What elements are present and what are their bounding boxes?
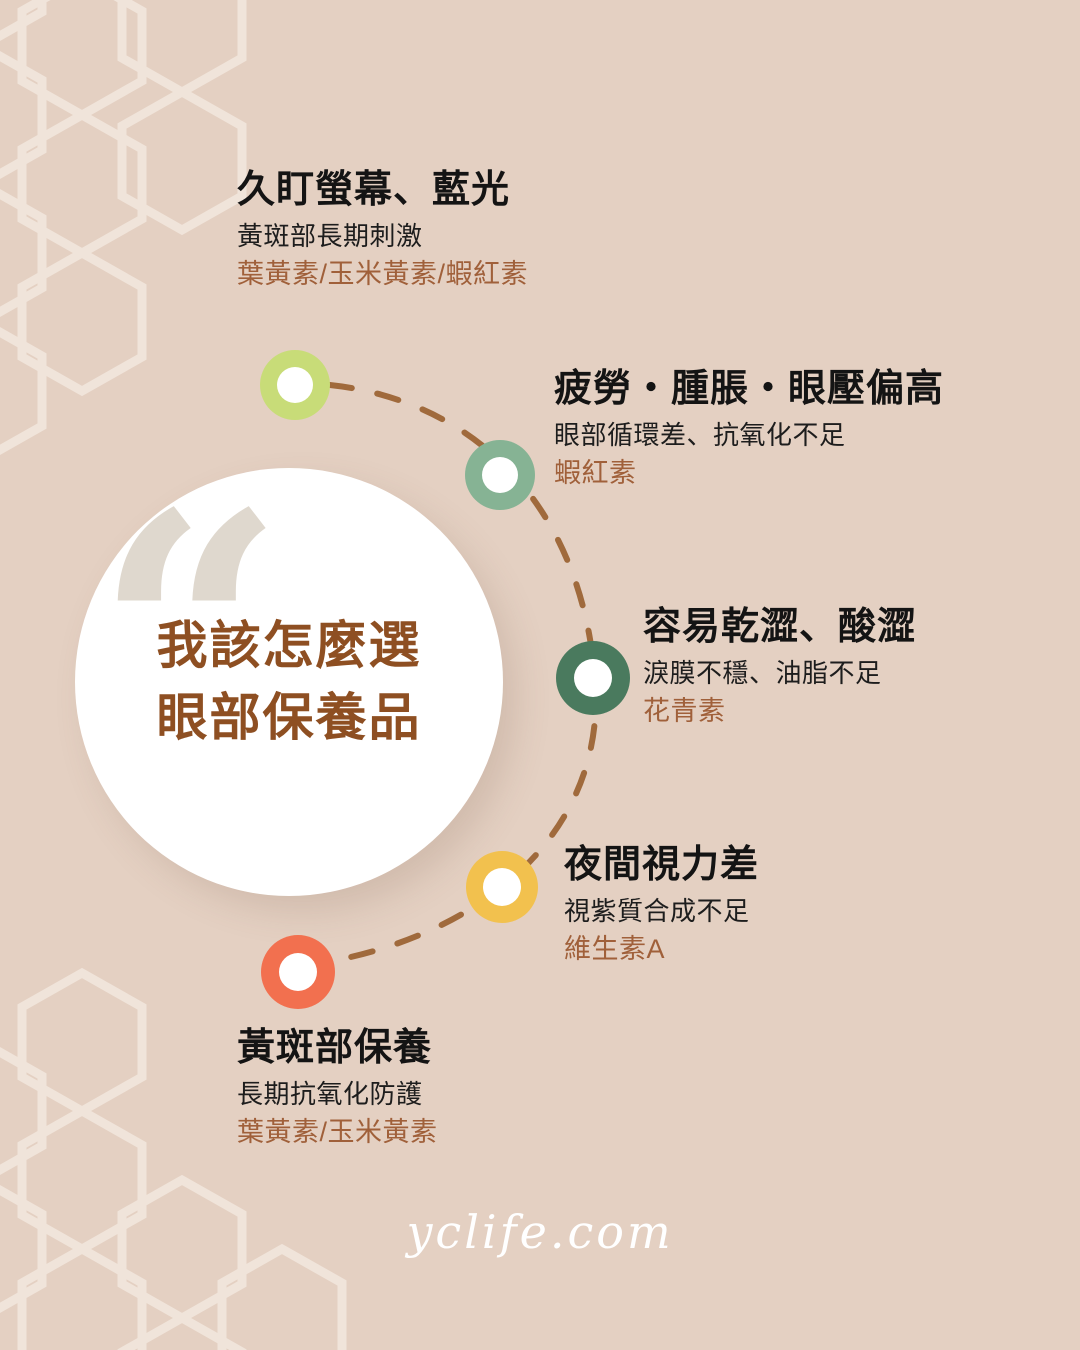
marker-dot-screen-blue-light[interactable] [260, 350, 330, 420]
item-accent: 蝦紅素 [554, 457, 944, 491]
item-accent: 維生素A [564, 933, 759, 967]
item-subtitle: 長期抗氧化防護 [237, 1078, 438, 1111]
item-title: 久盯螢幕、藍光 [237, 168, 528, 213]
marker-dot-inner-hole [277, 367, 313, 403]
infographic-canvas: “ 我該怎麼選 眼部保養品 久盯螢幕、藍光 黃斑部長期刺激 葉黃素/玉米黃素/蝦… [0, 0, 1080, 1350]
honeycomb-top-left-cluster [0, 0, 242, 460]
marker-dot-fatigue-swelling-pressure[interactable] [465, 440, 535, 510]
item-block-night-vision: 夜間視力差 視紫質合成不足 維生素A [564, 843, 759, 967]
marker-dot-inner-hole [279, 953, 317, 991]
item-block-screen-blue-light: 久盯螢幕、藍光 黃斑部長期刺激 葉黃素/玉米黃素/蝦紅素 [237, 168, 528, 292]
marker-dot-macular-care[interactable] [261, 935, 335, 1009]
item-subtitle: 淚膜不穩、油脂不足 [643, 657, 916, 690]
item-title: 黃斑部保養 [237, 1026, 438, 1071]
item-block-fatigue-swelling-pressure: 疲勞・腫脹・眼壓偏高 眼部循環差、抗氧化不足 蝦紅素 [554, 367, 944, 491]
marker-dot-inner-hole [482, 457, 518, 493]
item-subtitle: 眼部循環差、抗氧化不足 [554, 419, 944, 452]
item-subtitle: 黃斑部長期刺激 [237, 220, 528, 253]
item-title: 夜間視力差 [564, 843, 759, 888]
center-title-line-1: 我該怎麼選 [156, 610, 421, 682]
center-title-line-2: 眼部保養品 [156, 682, 421, 754]
item-block-macular-care: 黃斑部保養 長期抗氧化防護 葉黃素/玉米黃素 [237, 1026, 438, 1150]
item-accent: 葉黃素/玉米黃素 [237, 1116, 438, 1150]
item-title: 容易乾澀、酸澀 [643, 605, 916, 650]
center-title-block: 我該怎麼選 眼部保養品 [75, 468, 503, 896]
item-block-dry-sore-eyes: 容易乾澀、酸澀 淚膜不穩、油脂不足 花青素 [643, 605, 916, 729]
item-accent: 花青素 [643, 695, 916, 729]
item-title: 疲勞・腫脹・眼壓偏高 [554, 367, 944, 412]
item-accent: 葉黃素/玉米黃素/蝦紅素 [237, 258, 528, 292]
marker-dot-inner-hole [574, 659, 612, 697]
marker-dot-night-vision[interactable] [466, 851, 538, 923]
marker-dot-dry-sore-eyes[interactable] [556, 641, 630, 715]
item-subtitle: 視紫質合成不足 [564, 895, 759, 928]
footer-watermark: yclife.com [0, 1205, 1080, 1259]
marker-dot-inner-hole [483, 868, 521, 906]
